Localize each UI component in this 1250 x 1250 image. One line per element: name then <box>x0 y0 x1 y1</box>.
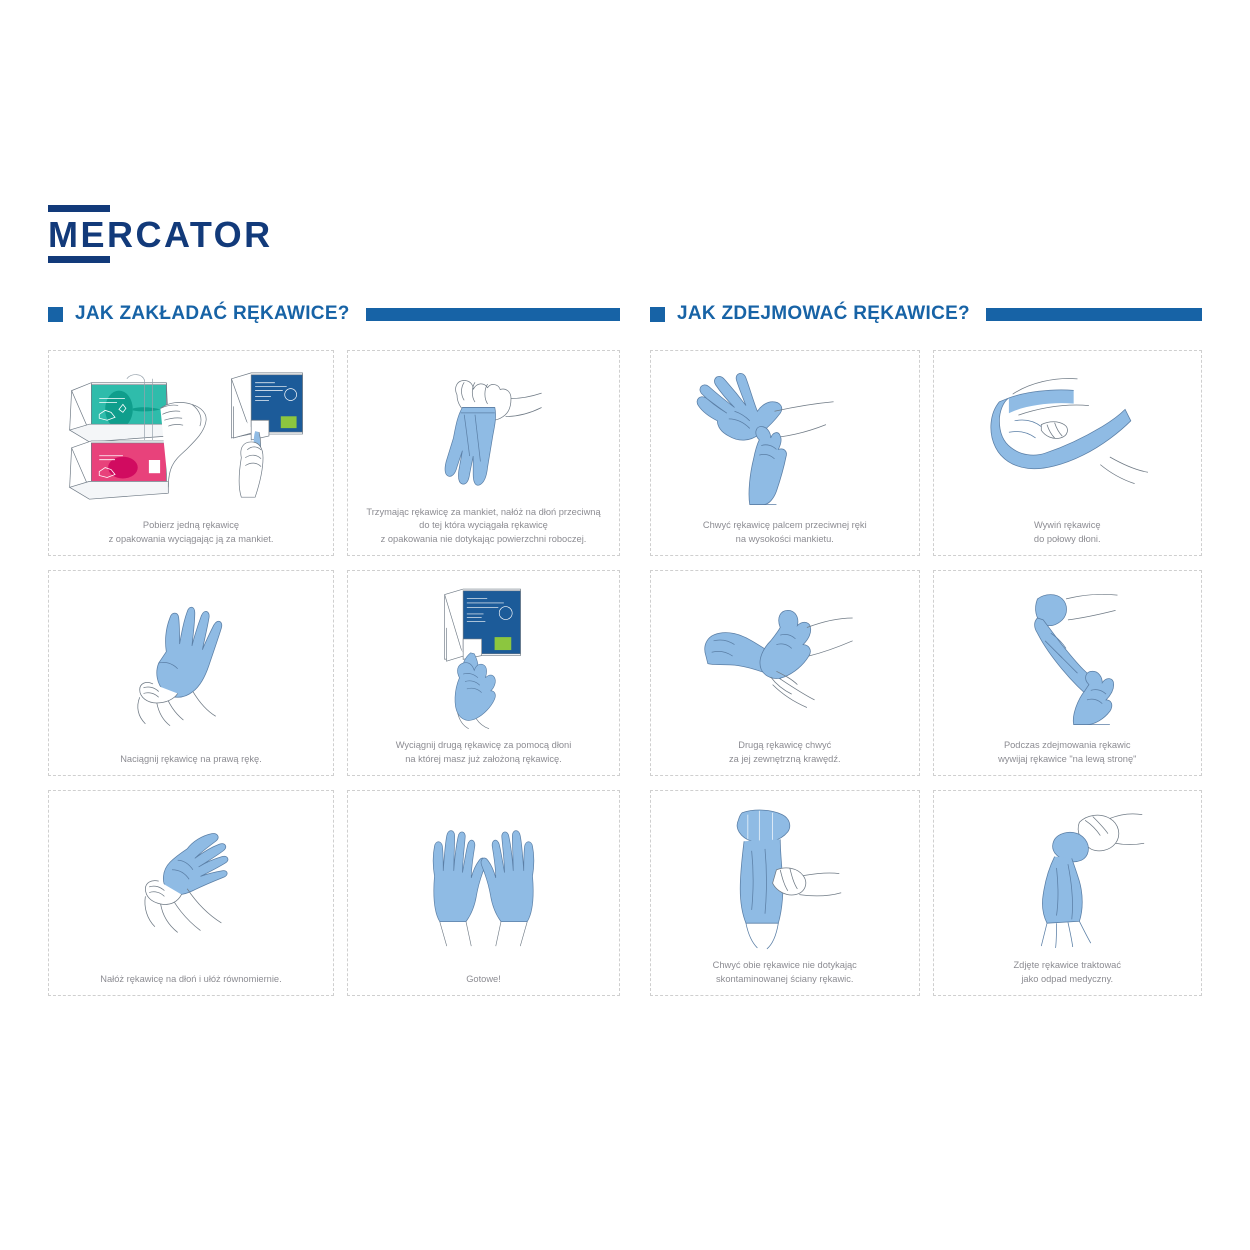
step-caption: Trzymając rękawicę za mankiet, nałóż na … <box>366 506 600 546</box>
roll-glove-to-mid-palm-illustration <box>942 357 1194 517</box>
step-caption: Nałóż rękawicę na dłoń i ułóż równomiern… <box>100 973 281 986</box>
step-panel: Nałóż rękawicę na dłoń i ułóż równomiern… <box>48 790 334 996</box>
header-rule <box>986 308 1202 321</box>
step-caption: Wyciągnij drugą rękawicę za pomocą dłoni… <box>396 739 572 766</box>
hand-holding-glove-by-cuff-illustration <box>356 356 611 504</box>
section-title-putting-on: JAK ZAKŁADAĆ RĘKAWICE? <box>75 303 350 325</box>
step-caption: Wywiń rękawicę do połowy dłoni. <box>1034 519 1101 546</box>
step-panel: Drugą rękawicę chwyć za jej zewnętrzną k… <box>650 570 920 776</box>
gloved-hand-pulling-from-box-illustration <box>356 577 611 737</box>
logo-bar-bottom <box>48 256 110 263</box>
square-bullet-icon <box>48 307 63 322</box>
grip-second-glove-outer-edge-illustration <box>659 577 911 737</box>
section-header-putting-on: JAK ZAKŁADAĆ RĘKAWICE? <box>48 303 620 325</box>
step-panel: Pobierz jedną rękawicę z opakowania wyci… <box>48 350 334 556</box>
panel-grid-taking-off: Chwyć rękawicę palcem przeciwnej ręki na… <box>650 350 1202 996</box>
step-caption: Chwyć obie rękawice nie dotykając skonta… <box>713 959 857 986</box>
dispose-as-medical-waste-illustration <box>942 797 1194 957</box>
step-panel: Gotowe! <box>347 790 620 996</box>
step-panel: Trzymając rękawicę za mankiet, nałóż na … <box>347 350 620 556</box>
turn-glove-inside-out-illustration <box>942 577 1194 737</box>
mercator-logo: MERCATOR <box>48 205 273 263</box>
dispenser-boxes-pulling-glove-illustration <box>57 357 325 517</box>
step-panel: Chwyć obie rękawice nie dotykając skonta… <box>650 790 920 996</box>
square-bullet-icon <box>650 307 665 322</box>
step-caption: Naciągnij rękawicę na prawą rękę. <box>120 753 262 766</box>
step-panel: Zdjęte rękawice traktować jako odpad med… <box>933 790 1203 996</box>
step-panel: Wywiń rękawicę do połowy dłoni. <box>933 350 1203 556</box>
step-panel: Chwyć rękawicę palcem przeciwnej ręki na… <box>650 350 920 556</box>
infographic-page: MERCATOR JAK ZAKŁADAĆ RĘKAWICE? JAK ZDEJ… <box>0 0 1250 1250</box>
step-caption: Drugą rękawicę chwyć za jej zewnętrzną k… <box>729 739 841 766</box>
step-caption: Chwyć rękawicę palcem przeciwnej ręki na… <box>703 519 867 546</box>
section-title-taking-off: JAK ZDEJMOWAĆ RĘKAWICE? <box>677 303 970 325</box>
section-header-taking-off: JAK ZDEJMOWAĆ RĘKAWICE? <box>650 303 1202 325</box>
header-rule <box>366 308 620 321</box>
step-caption: Gotowe! <box>466 973 501 986</box>
logo-wordmark: MERCATOR <box>48 217 273 253</box>
step-caption: Pobierz jedną rękawicę z opakowania wyci… <box>109 519 274 546</box>
adjusting-glove-on-hand-illustration <box>57 797 325 971</box>
hold-both-gloves-clean-side-illustration <box>659 797 911 957</box>
panel-grid-putting-on: Pobierz jedną rękawicę z opakowania wyci… <box>48 350 620 996</box>
pulling-glove-onto-right-hand-illustration <box>57 577 325 751</box>
step-caption: Zdjęte rękawice traktować jako odpad med… <box>1014 959 1121 986</box>
step-panel: Wyciągnij drugą rękawicę za pomocą dłoni… <box>347 570 620 776</box>
step-panel: Naciągnij rękawicę na prawą rękę. <box>48 570 334 776</box>
two-gloved-hands-done-illustration <box>356 797 611 971</box>
step-panel: Podczas zdejmowania rękawic wywijaj ręka… <box>933 570 1203 776</box>
grip-glove-at-cuff-illustration <box>659 357 911 517</box>
logo-bar-top <box>48 205 110 212</box>
step-caption: Podczas zdejmowania rękawic wywijaj ręka… <box>998 739 1136 766</box>
